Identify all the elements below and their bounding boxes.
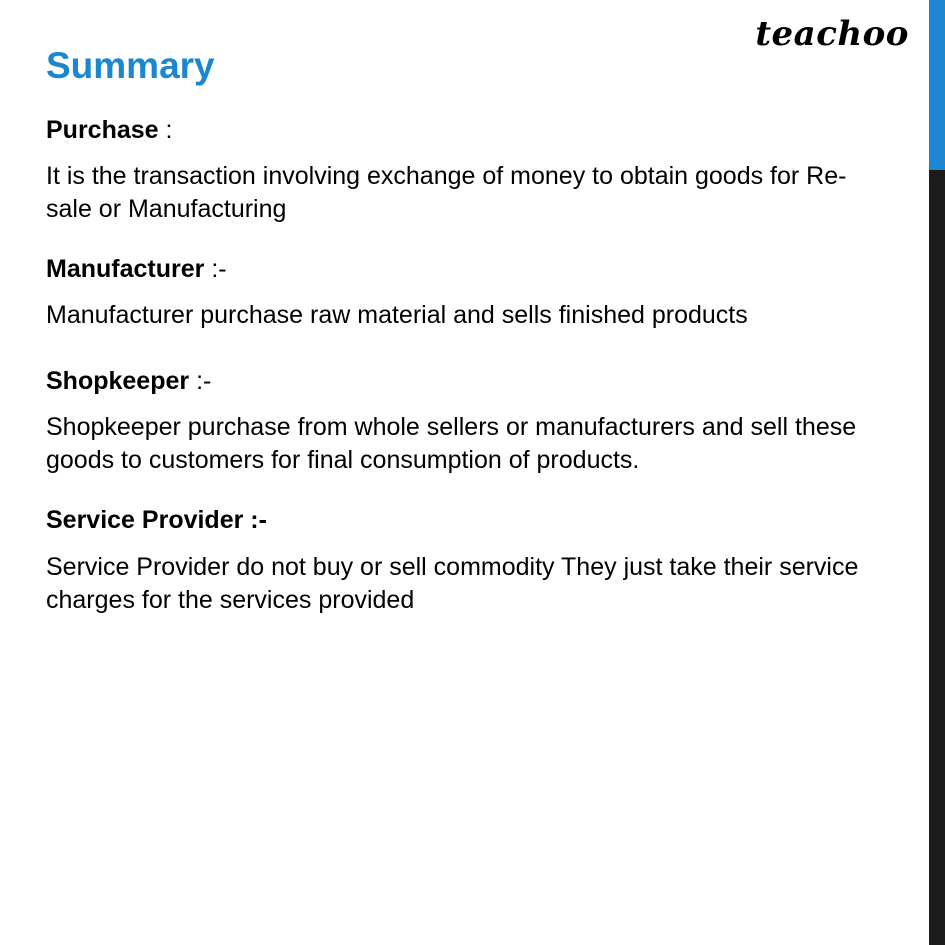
section-service-provider: Service Provider :- Service Provider do … xyxy=(46,505,876,616)
slide-content: Summary Purchase : It is the transaction… xyxy=(46,46,876,641)
accent-bar-blue xyxy=(929,0,945,170)
section-purchase: Purchase : It is the transaction involvi… xyxy=(46,115,876,226)
slide-canvas: teachoo Summary Purchase : It is the tra… xyxy=(0,0,945,945)
section-manufacturer-separator: :- xyxy=(211,255,226,283)
section-shopkeeper-term: Shopkeeper xyxy=(46,367,189,395)
section-shopkeeper-separator: :- xyxy=(196,367,211,395)
page-title: Summary xyxy=(46,46,876,87)
section-manufacturer: Manufacturer :- Manufacturer purchase ra… xyxy=(46,254,876,332)
section-manufacturer-text: Manufacturer purchase raw material and s… xyxy=(46,299,876,332)
section-service-provider-text: Service Provider do not buy or sell comm… xyxy=(46,551,876,617)
section-purchase-text: It is the transaction involving exchange… xyxy=(46,160,876,226)
section-service-provider-heading: Service Provider :- xyxy=(46,505,876,536)
section-manufacturer-term: Manufacturer xyxy=(46,255,204,283)
section-shopkeeper-text: Shopkeeper purchase from whole sellers o… xyxy=(46,411,876,477)
section-purchase-heading: Purchase : xyxy=(46,115,876,146)
section-purchase-separator: : xyxy=(166,116,173,144)
section-manufacturer-heading: Manufacturer :- xyxy=(46,254,876,285)
accent-bar-dark xyxy=(929,170,945,945)
section-shopkeeper: Shopkeeper :- Shopkeeper purchase from w… xyxy=(46,366,876,477)
section-purchase-term: Purchase xyxy=(46,116,159,144)
section-shopkeeper-heading: Shopkeeper :- xyxy=(46,366,876,397)
section-service-provider-term: Service Provider :- xyxy=(46,506,267,534)
